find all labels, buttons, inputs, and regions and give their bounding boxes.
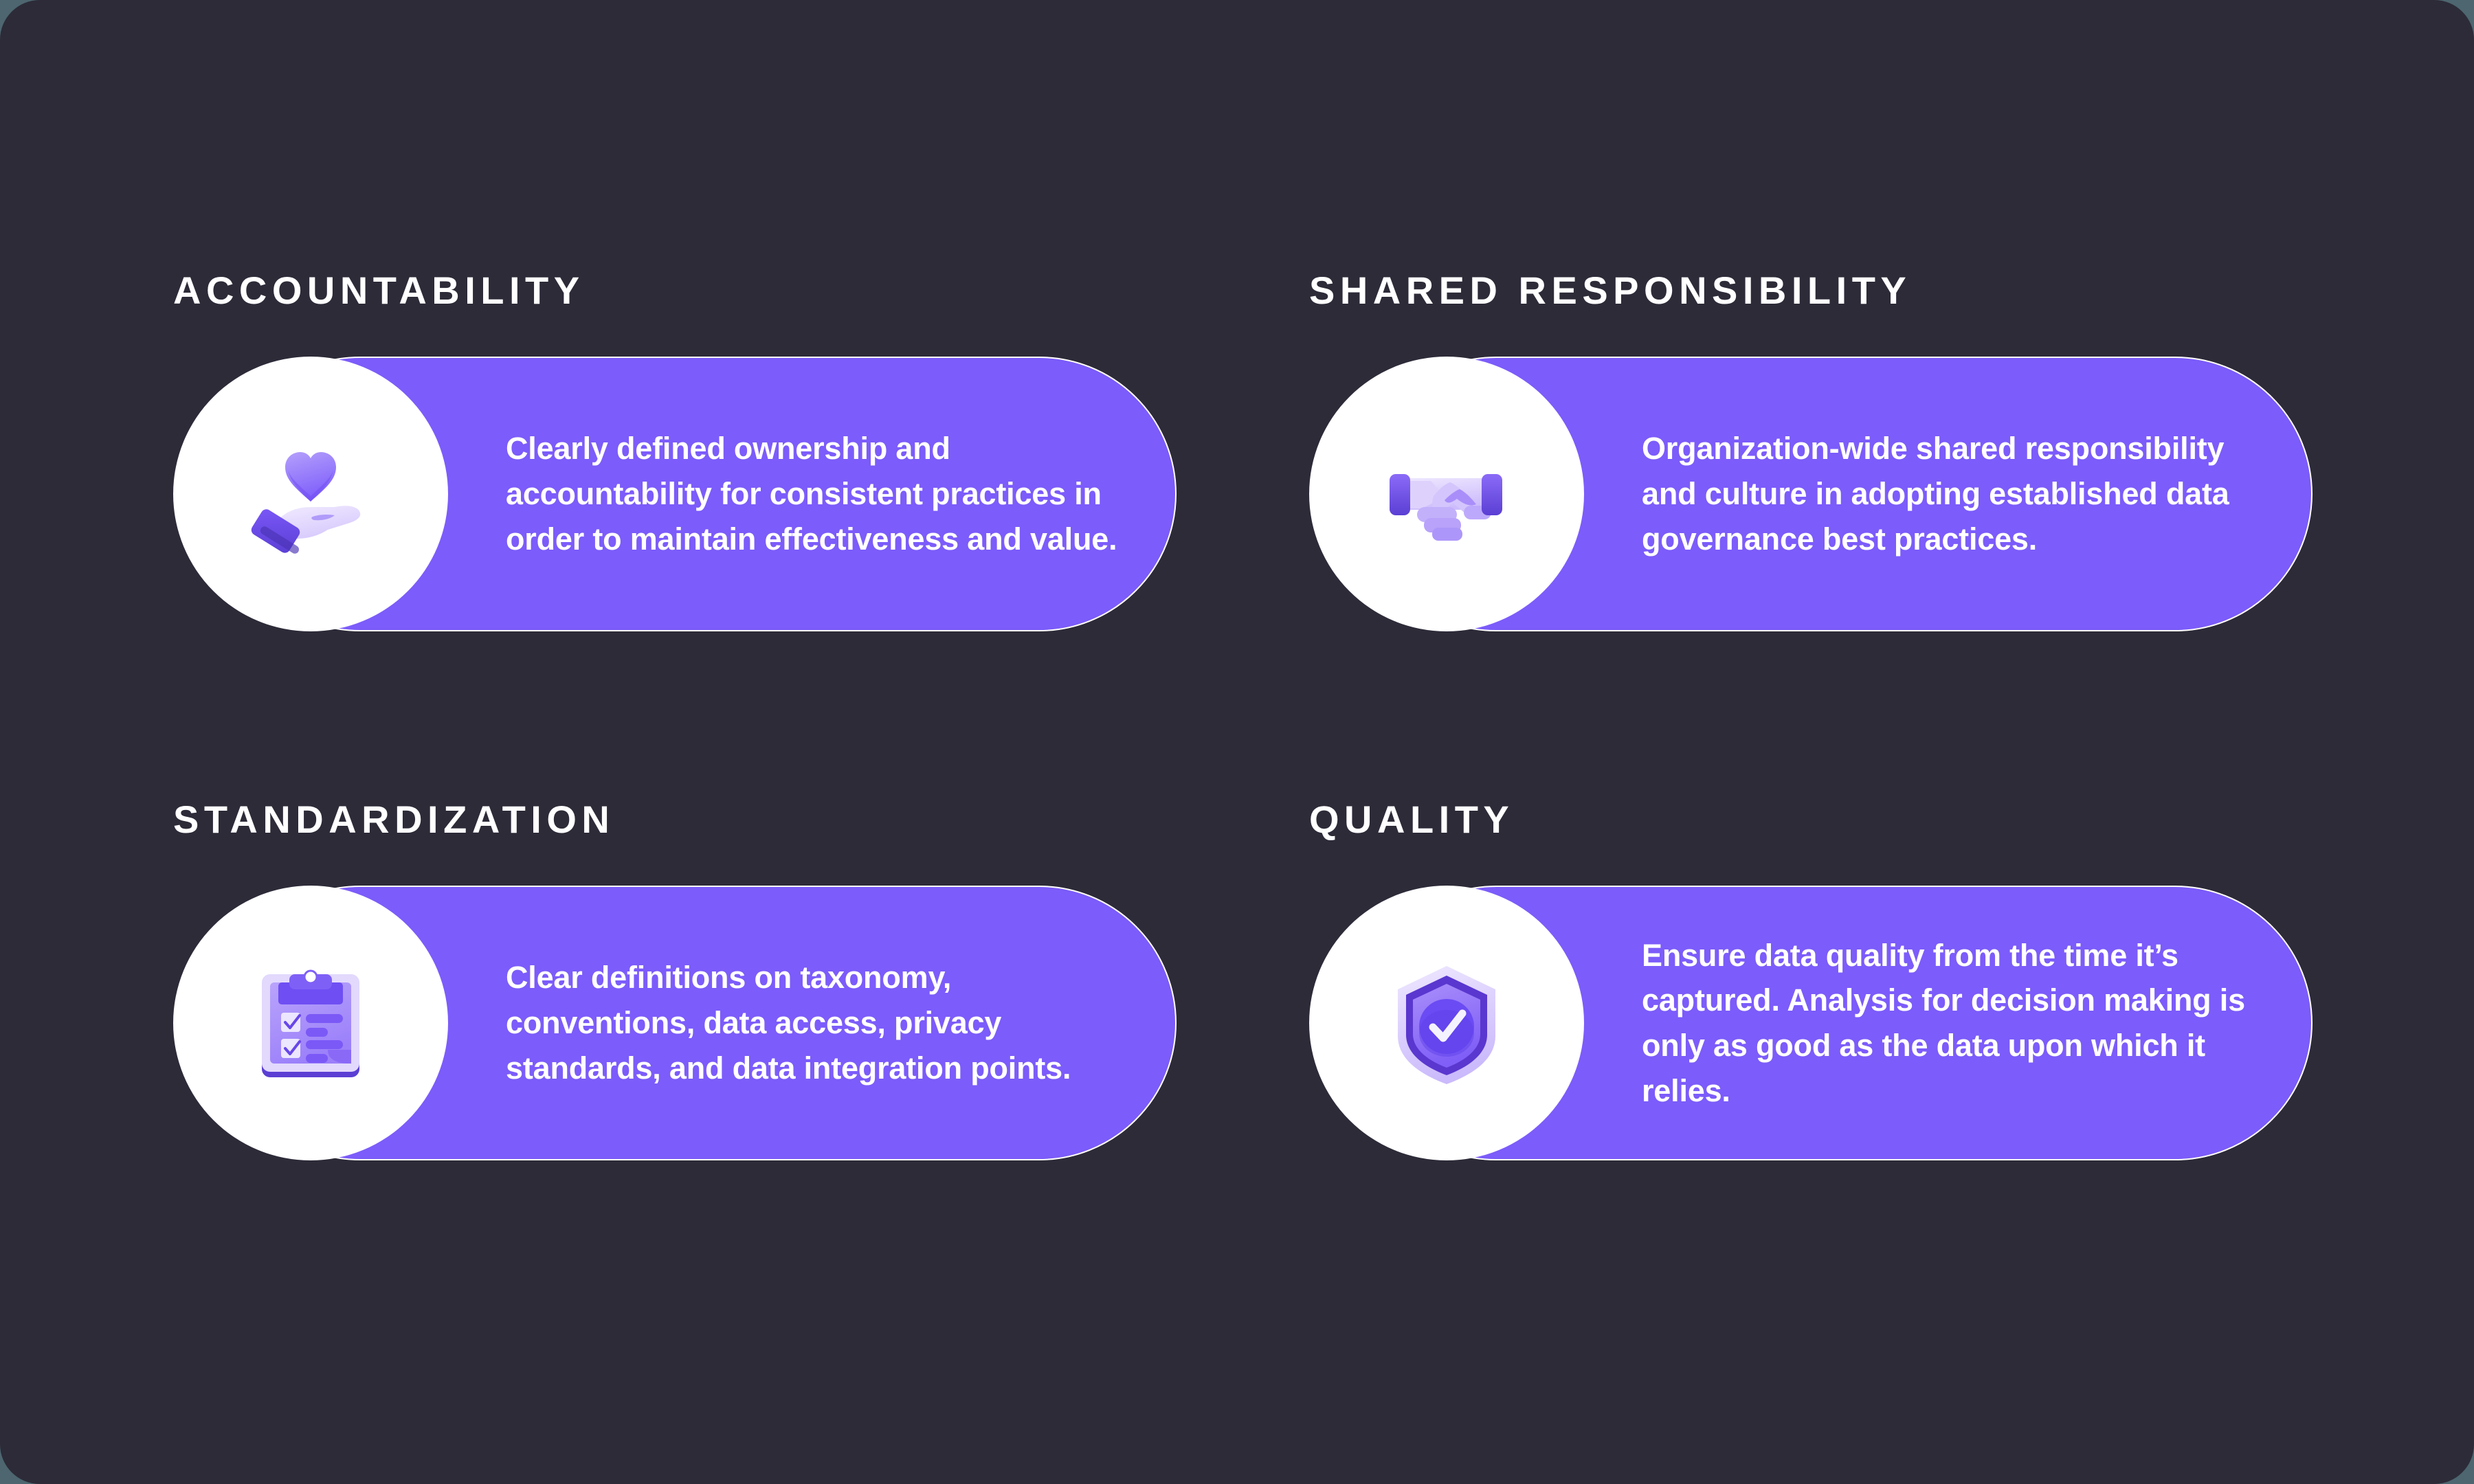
heart-in-hand-icon (232, 415, 390, 573)
principle-card-quality: QUALITY Ensure data quality from the tim… (1309, 800, 1514, 1160)
principle-card-shared-responsibility: SHARED RESPONSIBILITY Organization-wide … (1309, 271, 1911, 631)
card-heading: SHARED RESPONSIBILITY (1309, 271, 1911, 310)
principles-grid: ACCOUNTABILITY Clearly defined ownership… (0, 0, 2474, 1484)
card-heading: QUALITY (1309, 800, 1514, 839)
card-heading: ACCOUNTABILITY (173, 271, 585, 310)
card-icon-circle (173, 886, 448, 1160)
handshake-icon (1368, 415, 1526, 573)
card-pill-wrap: Clear definitions on taxonomy, conventio… (173, 886, 614, 1160)
card-body-text: Clearly defined ownership and accountabi… (506, 426, 1134, 561)
card-body-text: Clear definitions on taxonomy, conventio… (506, 955, 1134, 1090)
clipboard-checklist-icon (238, 951, 383, 1095)
shield-check-icon (1373, 949, 1521, 1097)
card-body-text: Ensure data quality from the time it’s c… (1642, 933, 2270, 1114)
card-icon-circle (173, 357, 448, 631)
infographic-canvas: ACCOUNTABILITY Clearly defined ownership… (0, 0, 2474, 1484)
card-heading: STANDARDIZATION (173, 800, 614, 839)
card-pill-wrap: Clearly defined ownership and accountabi… (173, 357, 585, 631)
card-icon-circle (1309, 357, 1584, 631)
card-pill-wrap: Ensure data quality from the time it’s c… (1309, 886, 1514, 1160)
card-body-text: Organization-wide shared responsibility … (1642, 426, 2270, 561)
card-icon-circle (1309, 886, 1584, 1160)
card-pill-wrap: Organization-wide shared responsibility … (1309, 357, 1911, 631)
principle-card-accountability: ACCOUNTABILITY Clearly defined ownership… (173, 271, 585, 631)
principle-card-standardization: STANDARDIZATION Clear definitions on tax… (173, 800, 614, 1160)
